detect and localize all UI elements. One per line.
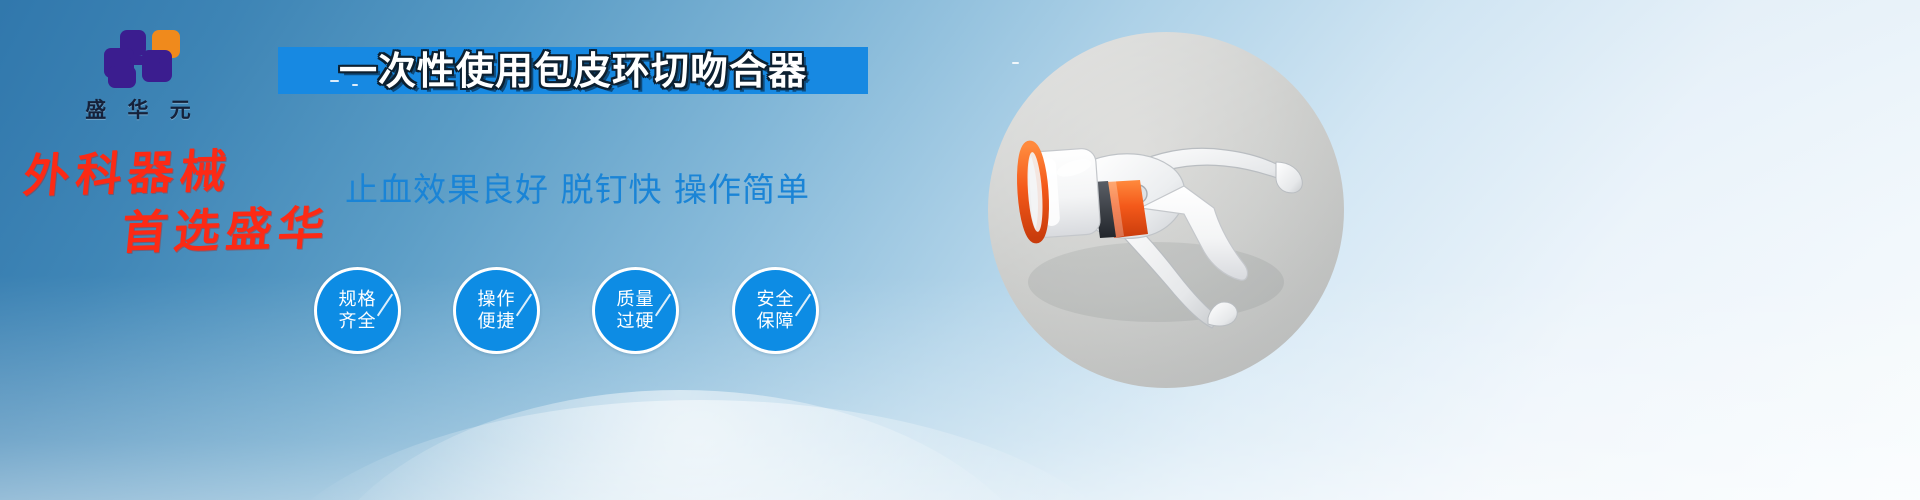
- logo-block-bottom-left: [108, 66, 136, 88]
- badge-label-line-2: 便捷: [478, 311, 516, 333]
- brand-logo[interactable]: 盛 华 元: [63, 30, 213, 122]
- product-image: [988, 32, 1344, 388]
- product-title-banner: 一次性使用包皮环切吻合器: [278, 47, 868, 94]
- badge-label-line-2: 保障: [757, 311, 795, 333]
- calligraphy-slogan: 外科器械 首选盛华: [18, 146, 348, 258]
- badge-label-line-2: 过硬: [617, 311, 655, 333]
- feature-badge-specification[interactable]: 规格 齐全: [314, 267, 401, 354]
- feature-badge-group: 规格 齐全 操作 便捷 质量 过硬 安全 保障: [314, 267, 854, 357]
- badge-label-line-1: 质量: [617, 289, 655, 311]
- feature-badge-safety[interactable]: 安全 保障: [732, 267, 819, 354]
- slogan-line-1: 外科器械: [21, 142, 351, 202]
- page-title: 一次性使用包皮环切吻合器: [339, 52, 807, 90]
- badge-label-line-1: 操作: [478, 289, 516, 311]
- feature-badge-quality[interactable]: 质量 过硬: [592, 267, 679, 354]
- feature-badge-operation[interactable]: 操作 便捷: [453, 267, 540, 354]
- badge-label-line-2: 齐全: [339, 311, 377, 333]
- promo-banner: 盛 华 元 外科器械 首选盛华 一次性使用包皮环切吻合器 止血效果良好 脱钉快 …: [0, 0, 1920, 500]
- brand-wordmark: 盛 华 元: [63, 94, 213, 124]
- subtitle-text: 止血效果良好 脱钉快 操作简单: [345, 173, 810, 206]
- brand-mark-icon: [90, 30, 186, 88]
- badge-label-line-1: 规格: [339, 289, 377, 311]
- sparkle-dot: [352, 84, 358, 86]
- slogan-line-2: 首选盛华: [119, 201, 351, 259]
- logo-connector-bar: [130, 56, 160, 65]
- subtitle-row: 止血效果良好 脱钉快 操作简单: [345, 168, 865, 210]
- sparkle-dot: [330, 80, 339, 82]
- logo-block-mid-right: [142, 50, 172, 82]
- badge-label-line-1: 安全: [757, 289, 795, 311]
- stapler-device-icon: [988, 32, 1344, 388]
